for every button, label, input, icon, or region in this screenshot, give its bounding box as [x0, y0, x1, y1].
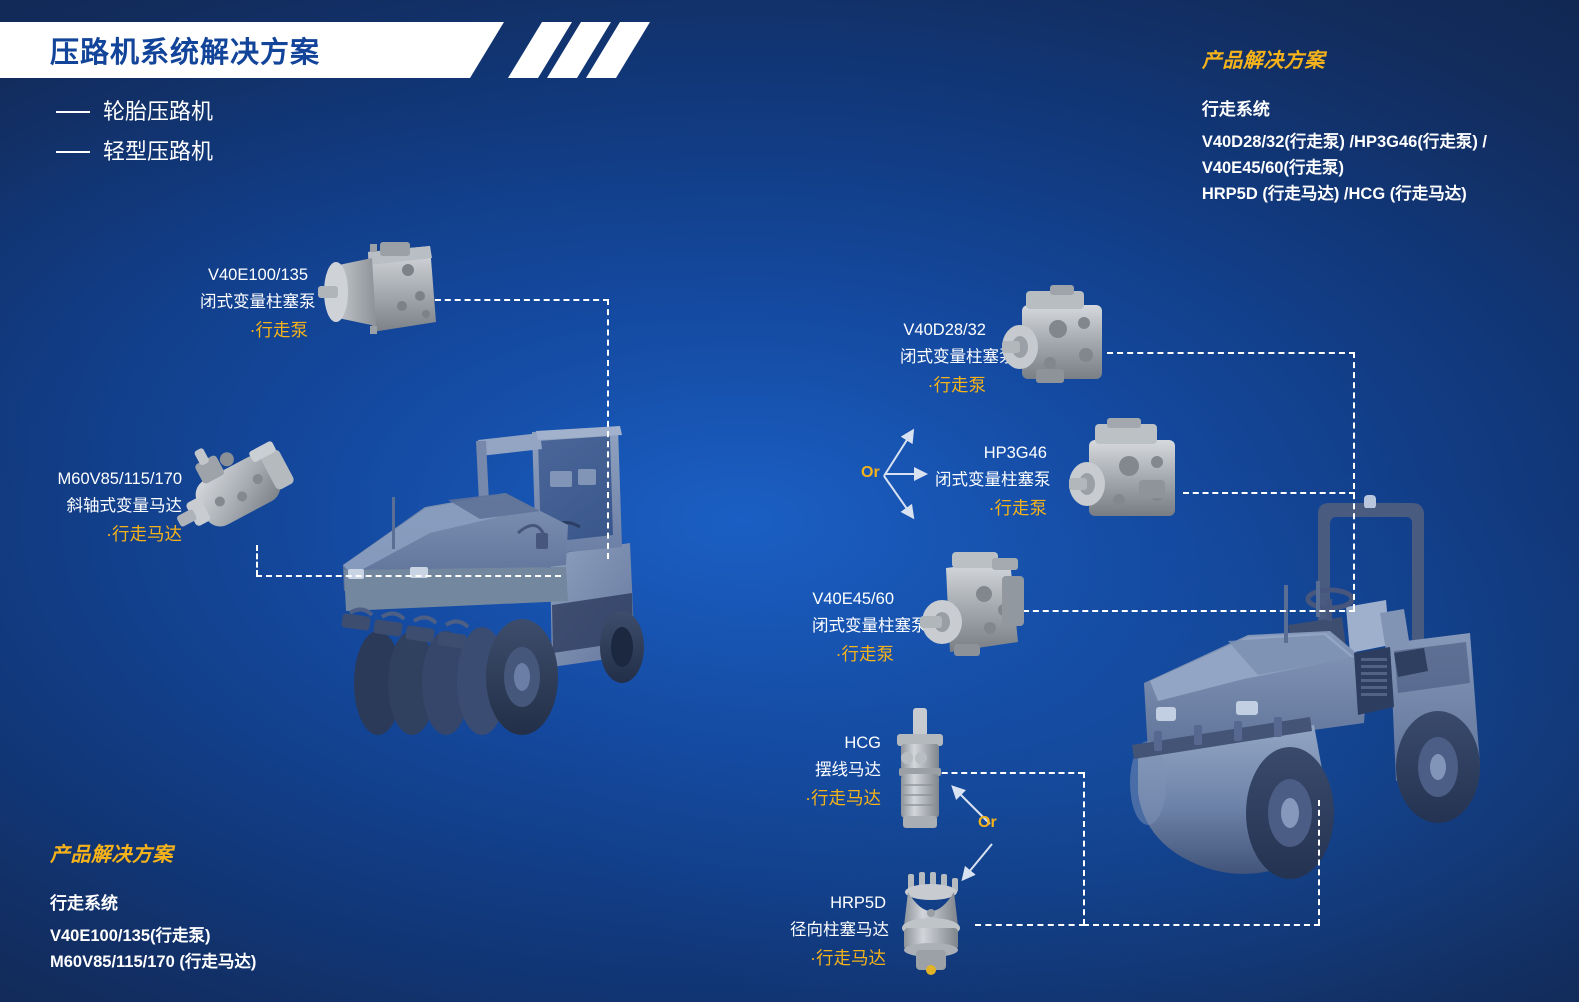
header-banner: 压路机系统解决方案: [0, 22, 585, 78]
component-type: 闭式变量柱塞泵: [200, 289, 308, 316]
component-v40e45-labels: V40E45/60 闭式变量柱塞泵 ·行走泵: [812, 586, 894, 668]
component-hp3g46-labels: HP3G46 闭式变量柱塞泵 ·行走泵: [935, 440, 1047, 522]
tire-roller-illustration: [300, 415, 770, 745]
component-hcg-image: [887, 708, 953, 833]
component-v40e100-image: [310, 240, 440, 350]
component-hp3g46-image: [1053, 418, 1185, 530]
or-marker-pumps: Or: [861, 464, 880, 482]
component-model: V40D28/32: [900, 317, 986, 344]
component-m60v85: M60V85/115/170 斜轴式变量马达 ·行走马达: [52, 430, 302, 550]
component-type: 闭式变量柱塞泵: [900, 344, 986, 371]
subtitle-row-2: 轻型压路机: [56, 132, 213, 172]
component-model: HRP5D: [790, 890, 886, 917]
or-arrows-pumps: [880, 418, 940, 528]
connector-motor-trunk-horizontal: [1083, 924, 1320, 926]
dash-icon: [56, 111, 90, 113]
connector-v40e100-vertical: [607, 299, 609, 559]
connector-v40d28-horizontal: [1107, 352, 1355, 354]
component-v40e45: V40E45/60 闭式变量柱塞泵 ·行走泵: [812, 550, 1027, 670]
solution-title: 产品解决方案: [1202, 44, 1487, 73]
connector-pump-trunk-vertical: [1353, 352, 1355, 610]
component-model: HP3G46: [935, 440, 1047, 467]
connector-m60v-horizontal: [256, 575, 561, 577]
component-type: 摆线马达: [795, 757, 881, 784]
component-v40d28-labels: V40D28/32 闭式变量柱塞泵 ·行走泵: [900, 317, 986, 399]
component-hp3g46: HP3G46 闭式变量柱塞泵 ·行走泵: [935, 418, 1185, 528]
connector-hrp5d-horizontal: [975, 924, 1085, 926]
solution-line: V40E100/135(行走泵): [50, 923, 256, 949]
component-v40e100-labels: V40E100/135 闭式变量柱塞泵 ·行走泵: [200, 262, 308, 344]
component-type: 闭式变量柱塞泵: [812, 613, 894, 640]
connector-motor-trunk-vertical: [1318, 800, 1320, 925]
solution-line: HRP5D (行走马达) /HCG (行走马达): [1202, 181, 1487, 207]
component-role: ·行走马达: [795, 784, 881, 812]
component-m60v85-labels: M60V85/115/170 斜轴式变量马达 ·行走马达: [52, 466, 182, 548]
solution-block-top-right: 产品解决方案 行走系统 V40D28/32(行走泵) /HP3G46(行走泵) …: [1202, 44, 1487, 207]
subtitle-text: 轻型压路机: [103, 132, 213, 172]
light-roller-illustration: [1118, 495, 1579, 905]
component-v40d28: V40D28/32 闭式变量柱塞泵 ·行走泵: [900, 285, 1110, 395]
subtitle-text: 轮胎压路机: [103, 92, 213, 132]
solution-title: 产品解决方案: [50, 838, 256, 867]
component-model: V40E45/60: [812, 586, 894, 613]
connector-motor-bracket-vertical: [1083, 772, 1085, 925]
or-marker-motors: Or: [978, 814, 997, 832]
component-v40e45-image: [898, 550, 1028, 668]
component-role: ·行走马达: [52, 520, 182, 548]
solution-line: M60V85/115/170 (行走马达): [50, 949, 256, 975]
poster-canvas: Or Or V40E100/135 闭式变量柱塞泵 ·行走泵: [0, 0, 1579, 1002]
connector-hp3g46-horizontal: [1183, 492, 1355, 494]
or-label-text: Or: [861, 464, 880, 481]
solution-block-bottom-left: 产品解决方案 行走系统 V40E100/135(行走泵) M60V85/115/…: [50, 838, 256, 975]
header-subtitles: 轮胎压路机 轻型压路机: [56, 92, 213, 172]
component-role: ·行走泵: [935, 494, 1047, 522]
component-role: ·行走马达: [790, 944, 886, 972]
component-model: HCG: [795, 730, 881, 757]
solution-system-label: 行走系统: [1202, 95, 1487, 120]
connector-hcg-horizontal: [932, 772, 1084, 774]
component-model: M60V85/115/170: [52, 466, 182, 493]
component-role: ·行走泵: [200, 316, 308, 344]
component-hcg-labels: HCG 摆线马达 ·行走马达: [795, 730, 881, 812]
solution-line: V40E45/60(行走泵): [1202, 155, 1487, 181]
subtitle-row-1: 轮胎压路机: [56, 92, 213, 132]
component-hrp5d-labels: HRP5D 径向柱塞马达 ·行走马达: [790, 890, 886, 972]
solution-system-label: 行走系统: [50, 889, 256, 914]
component-type: 斜轴式变量马达: [52, 493, 182, 520]
dash-icon: [56, 151, 90, 153]
component-v40d28-image: [988, 285, 1110, 395]
component-v40e100: V40E100/135 闭式变量柱塞泵 ·行走泵: [200, 240, 440, 350]
connector-v40e45-horizontal: [1023, 610, 1355, 612]
solution-line: V40D28/32(行走泵) /HP3G46(行走泵) /: [1202, 129, 1487, 155]
page-title: 压路机系统解决方案: [50, 29, 320, 71]
connector-v40e100-horizontal: [425, 299, 609, 301]
component-role: ·行走泵: [812, 640, 894, 668]
or-label-text: Or: [978, 814, 997, 831]
component-type: 闭式变量柱塞泵: [935, 467, 1047, 494]
component-m60v85-image: [182, 430, 302, 555]
component-type: 径向柱塞马达: [790, 917, 886, 944]
component-model: V40E100/135: [200, 262, 308, 289]
or-arrows-motors: [946, 782, 1010, 892]
component-role: ·行走泵: [900, 371, 986, 399]
component-hrp5d: HRP5D 径向柱塞马达 ·行走马达: [790, 880, 950, 990]
component-hcg: HCG 摆线马达 ·行走马达: [795, 712, 945, 832]
